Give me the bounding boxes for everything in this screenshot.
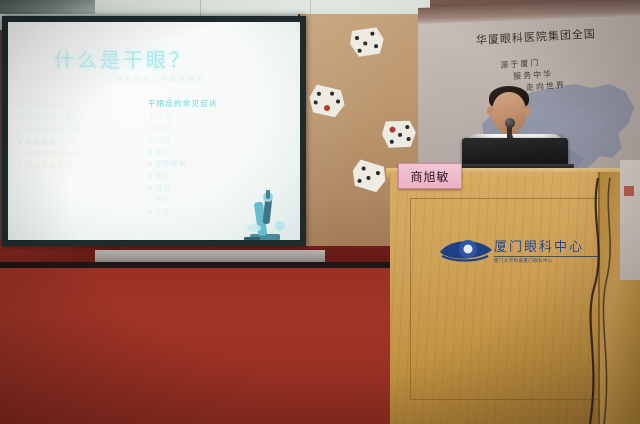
slide-left-item: 泪液渗透压升高 bbox=[18, 148, 148, 160]
slide-title: 什么是干眼？ bbox=[8, 44, 238, 73]
laptop-lid: LAPTOP bbox=[462, 138, 568, 166]
podium-logo-sub: 厦门大学附属厦门眼科中心 bbox=[494, 258, 614, 264]
banner-title: 华厦眼科医院集团全国 bbox=[476, 21, 640, 48]
speaker-name-placard: 商旭敏 bbox=[398, 163, 462, 189]
microscope-illustration bbox=[230, 188, 296, 240]
slide-left-item: 泪膜稳定性下降 bbox=[18, 124, 148, 136]
slide-left-column: 干眼的定义 泪液分泌不足 泪膜稳定性下降 眼表损害 泪液渗透压升高 眼部不适症状 bbox=[18, 100, 148, 172]
microphone-head bbox=[505, 118, 515, 128]
slide-left-item: 干眼的定义 bbox=[18, 100, 148, 112]
speaker-name-text: 商旭敏 bbox=[410, 168, 449, 185]
projection-screen-frame: 什么是干眼？ 干眼症的定义与临床表现 干眼的定义 泪液分泌不足 泪膜稳定性下降 … bbox=[2, 16, 306, 246]
slide-right-item: 眼红 bbox=[148, 170, 278, 182]
podium-logo-main: 厦门眼科中心 bbox=[494, 236, 614, 255]
podium-front-panel bbox=[410, 198, 604, 400]
slide-right-header: 干眼症的常见症状 bbox=[148, 98, 278, 110]
right-wall-red-mark bbox=[624, 186, 634, 196]
speaker-ear-right bbox=[524, 106, 531, 116]
slide-right-item: 干涩感 bbox=[148, 110, 278, 122]
slide-right-item: 畏光 bbox=[148, 146, 278, 158]
lecture-hall-photo: 华厦眼科医院集团全国 源于厦门 服务中华 走向世界 LAPTOP bbox=[0, 0, 640, 424]
slide-right-item: 异物感 bbox=[148, 122, 278, 134]
speaker-ear-left bbox=[487, 106, 494, 116]
slide-right-item: 视物模糊 bbox=[148, 158, 278, 170]
eye-logo-icon bbox=[438, 236, 494, 262]
podium-logo-text: 厦门眼科中心 厦门大学附属厦门眼科中心 bbox=[494, 236, 614, 264]
slide-subtitle: 干眼症的定义与临床表现 bbox=[26, 74, 286, 84]
projection-screen: 什么是干眼？ 干眼症的定义与临床表现 干眼的定义 泪液分泌不足 泪膜稳定性下降 … bbox=[8, 22, 300, 240]
slide-left-item: 眼部不适症状 bbox=[18, 160, 148, 172]
slide-left-item: 眼表损害 bbox=[18, 136, 148, 148]
ceiling-dark-tile bbox=[0, 0, 95, 14]
slide-right-item: 烧灼感 bbox=[148, 134, 278, 146]
right-wall-paper bbox=[620, 160, 640, 280]
slide-left-item: 泪液分泌不足 bbox=[18, 112, 148, 124]
